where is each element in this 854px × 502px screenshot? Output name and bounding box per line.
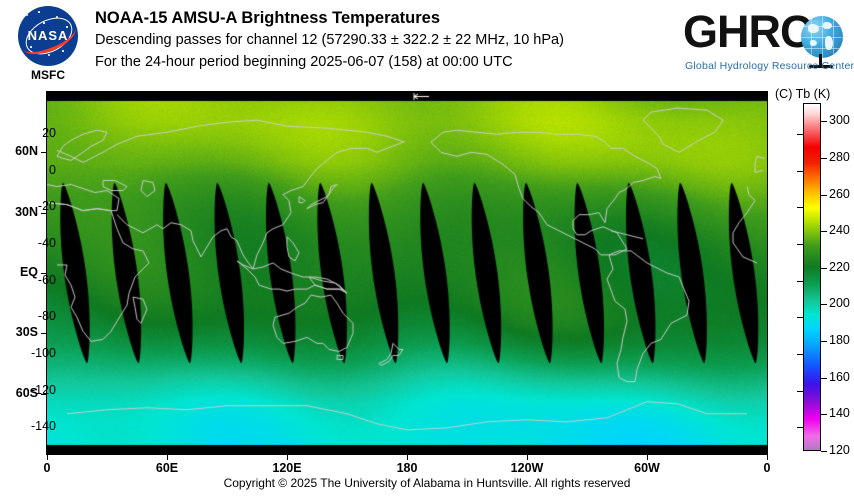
nasa-logo: NASA MSFC — [8, 6, 88, 84]
brightness-temperature-map — [47, 92, 767, 454]
colorbar-tick-celsius — [797, 391, 803, 392]
colorbar-label-celsius: -40 — [16, 236, 56, 250]
colorbar-label-celsius: 0 — [16, 163, 56, 177]
colorbar-label-celsius: 20 — [16, 126, 56, 140]
x-axis-tick — [647, 455, 648, 460]
x-axis-label: 60E — [137, 461, 197, 475]
x-axis-label: 0 — [17, 461, 77, 475]
globe-icon — [801, 16, 843, 58]
colorbar-tick-kelvin — [821, 414, 827, 415]
colorbar-label-kelvin: 280 — [829, 150, 850, 164]
colorbar-tick-kelvin — [821, 378, 827, 379]
x-axis-label: 0 — [737, 461, 797, 475]
y-axis-tick — [41, 152, 46, 153]
nasa-wordmark: NASA — [26, 28, 70, 43]
colorbar-tick-kelvin — [821, 341, 827, 342]
x-axis-label: 60W — [617, 461, 677, 475]
colorbar-tick-kelvin — [821, 231, 827, 232]
colorbar-tick-kelvin — [821, 304, 827, 305]
x-axis-tick — [527, 455, 528, 460]
colorbar-tick-celsius — [797, 354, 803, 355]
colorbar-label-celsius: -140 — [16, 419, 56, 433]
colorbar-tick-kelvin — [821, 451, 827, 452]
x-axis-tick — [407, 455, 408, 460]
colorbar-label-celsius: -20 — [16, 199, 56, 213]
ghrc-tagline: Global Hydrology Resource Center — [685, 60, 854, 72]
colorbar-tick-celsius — [797, 171, 803, 172]
x-axis-label: 180 — [377, 461, 437, 475]
y-axis-label: 30S — [16, 325, 38, 339]
colorbar-tick-celsius — [797, 281, 803, 282]
colorbar-label-kelvin: 120 — [829, 443, 850, 457]
title-line-2: Descending passes for channel 12 (57290.… — [95, 29, 675, 51]
colorbar-units-label: (C) Tb (K) — [775, 87, 830, 101]
title-line-1: NOAA-15 AMSU-A Brightness Temperatures — [95, 8, 675, 29]
ghrc-acronym: GHRC — [683, 6, 812, 58]
colorbar-gradient — [803, 103, 821, 451]
copyright-notice: Copyright © 2025 The University of Alaba… — [0, 476, 854, 490]
colorbar-label-kelvin: 160 — [829, 370, 850, 384]
colorbar-label-celsius: -80 — [16, 309, 56, 323]
colorbar-label-kelvin: 180 — [829, 333, 850, 347]
colorbar-tick-kelvin — [821, 195, 827, 196]
nasa-center-label: MSFC — [8, 68, 88, 82]
colorbar-tick-celsius — [797, 244, 803, 245]
x-axis-label: 120E — [257, 461, 317, 475]
colorbar-label-kelvin: 200 — [829, 296, 850, 310]
colorbar-tick-celsius — [797, 427, 803, 428]
colorbar-tick-kelvin — [821, 158, 827, 159]
x-axis-tick — [287, 455, 288, 460]
colorbar-label-kelvin: 260 — [829, 187, 850, 201]
colorbar-label-celsius: -100 — [16, 346, 56, 360]
y-axis-tick — [41, 333, 46, 334]
colorbar-tick-celsius — [797, 207, 803, 208]
colorbar-label-kelvin: 140 — [829, 406, 850, 420]
ghrc-logo: GHRC Global Hydrology Resource Center — [683, 4, 849, 80]
colorbar-label-kelvin: 220 — [829, 260, 850, 274]
colorbar-tick-kelvin — [821, 121, 827, 122]
x-axis-tick — [47, 455, 48, 460]
colorbar-label-kelvin: 240 — [829, 223, 850, 237]
colorbar-tick-celsius — [797, 317, 803, 318]
title-line-3: For the 24-hour period beginning 2025-06… — [95, 51, 675, 73]
x-axis-tick — [767, 455, 768, 460]
colorbar-tick-celsius — [797, 134, 803, 135]
colorbar-tick-kelvin — [821, 268, 827, 269]
x-axis-tick — [167, 455, 168, 460]
colorbar-label-celsius: -60 — [16, 273, 56, 287]
y-axis-label: 60N — [15, 144, 38, 158]
page-title: NOAA-15 AMSU-A Brightness Temperatures D… — [95, 8, 675, 73]
x-axis-label: 120W — [497, 461, 557, 475]
colorbar-label-kelvin: 300 — [829, 113, 850, 127]
nasa-meatball-icon: NASA — [18, 6, 78, 66]
colorbar-label-celsius: -120 — [16, 383, 56, 397]
map-plot-area[interactable] — [46, 91, 768, 455]
